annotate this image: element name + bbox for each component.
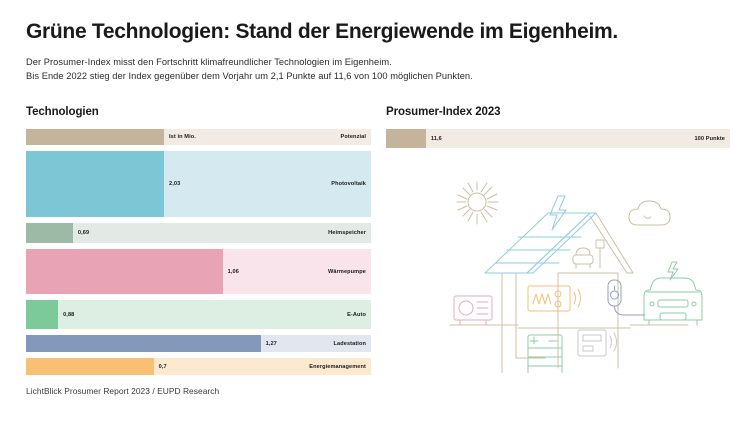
battery-storage-icon (528, 335, 562, 373)
bar-category-label: E-Auto (347, 312, 366, 318)
bar-value-label: 0,7 (159, 364, 167, 370)
heat-pump-icon (454, 296, 492, 325)
page-title: Grüne Technologien: Stand der Energiewen… (26, 20, 618, 44)
smart-meter-icon (578, 330, 617, 356)
bar-row: 0,7Energiemanagement (26, 358, 371, 375)
bar-track-potential: 1,06Wärmepumpe (26, 249, 371, 294)
bar-row: 0,69Heimspeicher (26, 223, 371, 243)
bar-row: 1,06Wärmepumpe (26, 249, 371, 294)
technologien-bar-chart: Ist in Mio.Potenzial2,03Photovoltaik0,69… (26, 129, 371, 381)
floor-lamp-icon (596, 240, 604, 268)
house-outline (558, 213, 633, 368)
subtitle-line-2: Bis Ende 2022 stieg der Index gegenüber … (26, 71, 473, 81)
bar-value-label: 2,03 (169, 181, 180, 187)
bar-fill-ist (26, 129, 164, 145)
bar-track-potential: Ist in Mio.Potenzial (26, 129, 371, 145)
bar-track-potential: 2,03Photovoltaik (26, 151, 371, 217)
index-bar-track: 11,6100 Punkte (386, 129, 730, 148)
bar-category-label: Wärmepumpe (328, 269, 366, 275)
bar-category-label: Photovoltaik (331, 181, 366, 187)
cloud-icon (629, 201, 670, 225)
bar-value-label: 0,69 (78, 230, 89, 236)
bar-value-label: 1,06 (228, 269, 239, 275)
electric-car-icon (644, 262, 702, 325)
bar-value-label: 1,27 (266, 341, 277, 347)
wiring-lines (502, 273, 545, 373)
bar-fill-ist (26, 358, 154, 375)
ground-line (450, 325, 688, 328)
index-value-label: 11,6 (431, 136, 442, 142)
bar-row: 2,03Photovoltaik (26, 151, 371, 217)
bar-category-label: Ladestation (334, 341, 367, 347)
bar-track-potential: 0,7Energiemanagement (26, 358, 371, 375)
bar-value-label: 0,88 (63, 312, 74, 318)
bar-value-header: Ist in Mio. (169, 134, 196, 140)
wallbox-icon (608, 280, 645, 315)
armchair-icon (573, 248, 593, 268)
subtitle-line-1: Der Prosumer-Index misst den Fortschritt… (26, 57, 392, 67)
bar-track-potential: 1,27Ladestation (26, 335, 371, 352)
bar-fill-ist (26, 300, 58, 329)
source-note: LichtBlick Prosumer Report 2023 / EUPD R… (26, 386, 219, 396)
bar-fill-ist (26, 249, 223, 294)
bar-fill-ist (26, 151, 164, 217)
index-bar-fill (386, 129, 426, 148)
infographic-page: Grüne Technologien: Stand der Energiewen… (0, 0, 750, 422)
sun-icon (457, 182, 498, 224)
bar-category-label: Heimspeicher (328, 230, 366, 236)
prosumer-index-bar: 11,6100 Punkte (386, 129, 730, 148)
bar-fill-ist (26, 223, 73, 243)
bar-track-potential: 0,88E-Auto (26, 300, 371, 329)
bar-track-potential: 0,69Heimspeicher (26, 223, 371, 243)
index-max-label: 100 Punkte (694, 136, 725, 142)
bar-category-label: Energiemanagement (309, 364, 366, 370)
house-illustration (430, 168, 730, 373)
bar-row: 0,88E-Auto (26, 300, 371, 329)
bar-potential-header: Potenzial (341, 134, 366, 140)
bar-legend-row: Ist in Mio.Potenzial (26, 129, 371, 145)
energy-management-icon (528, 286, 581, 311)
bar-row: 1,27Ladestation (26, 335, 371, 352)
technologien-section-title: Technologien (26, 106, 99, 118)
prosumer-index-section-title: Prosumer-Index 2023 (386, 106, 500, 118)
bar-fill-ist (26, 335, 261, 352)
